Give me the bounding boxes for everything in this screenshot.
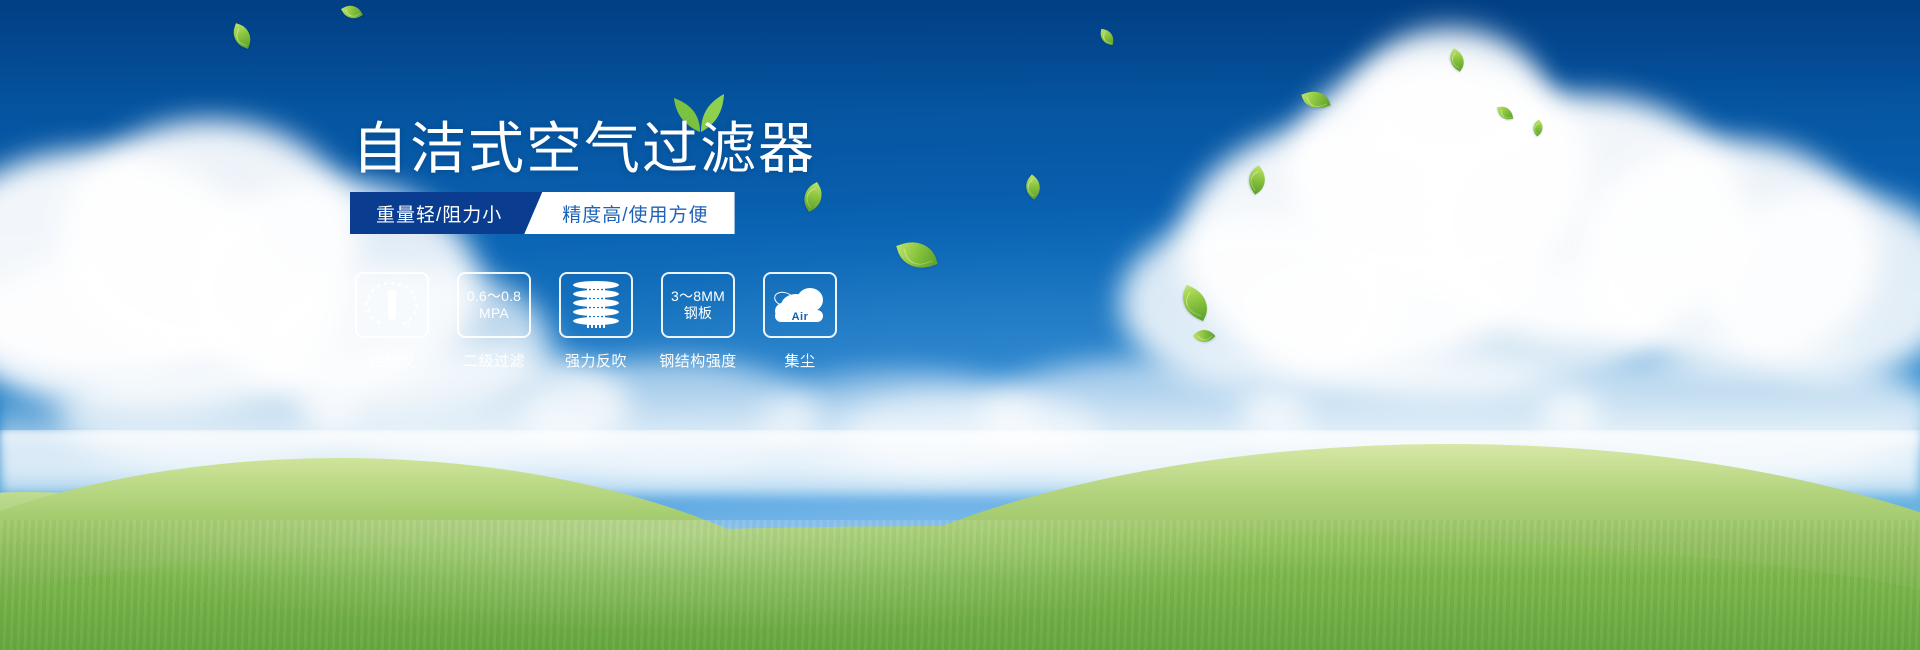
page-title: 自洁式空气过滤器 xyxy=(352,118,816,180)
air-cloud-icon: Air xyxy=(773,284,827,326)
steel-plate-value-icon: 3～8MM 钢板 xyxy=(671,288,725,322)
feature-label: 控制仪 xyxy=(369,350,416,371)
feature-icon-box: 0.6～0.8 MPA xyxy=(457,272,531,338)
feature-item[interactable]: 3～8MM 钢板 钢结构强度 xyxy=(662,272,734,371)
subtitle-tabs: 重量轻/阻力小 精度高/使用方便 xyxy=(350,192,735,234)
feature-item[interactable]: 强力反吹 xyxy=(560,272,632,371)
feature-item[interactable]: Air 集尘 xyxy=(764,272,836,371)
pressure-line-2: MPA xyxy=(467,305,521,322)
steel-line-1: 3～8MM xyxy=(671,288,725,305)
hero-banner: 自洁式空气过滤器 重量轻/阻力小 精度高/使用方便 xyxy=(0,0,1920,650)
feature-icon-box: 3～8MM 钢板 xyxy=(661,272,735,338)
feature-icon-box: NO OFF xyxy=(355,272,429,338)
banner-content: 自洁式空气过滤器 重量轻/阻力小 精度高/使用方便 xyxy=(0,0,1920,650)
dial-label-off: OFF xyxy=(404,316,417,330)
feature-label: 集尘 xyxy=(784,350,815,371)
pressure-value-icon: 0.6～0.8 MPA xyxy=(467,288,521,322)
feature-label: 强力反吹 xyxy=(565,350,627,371)
control-dial-icon: NO OFF xyxy=(365,281,419,329)
tab-lightweight-low-resistance[interactable]: 重量轻/阻力小 xyxy=(350,192,542,234)
steel-line-2: 钢板 xyxy=(671,305,725,322)
feature-item[interactable]: NO OFF 控制仪 xyxy=(356,272,428,371)
feature-icon-box xyxy=(559,272,633,338)
feature-label: 钢结构强度 xyxy=(659,350,737,371)
dial-label-no: NO xyxy=(363,296,373,307)
air-cloud-label: Air xyxy=(773,311,827,323)
feature-list: NO OFF 控制仪 0.6～0.8 MPA 二级过滤 xyxy=(356,272,836,371)
coil-filter-icon xyxy=(573,281,619,329)
pressure-line-1: 0.6～0.8 xyxy=(467,288,521,305)
tab-high-precision-easy-use[interactable]: 精度高/使用方便 xyxy=(524,192,734,234)
feature-label: 二级过滤 xyxy=(463,350,525,371)
feature-item[interactable]: 0.6～0.8 MPA 二级过滤 xyxy=(458,272,530,371)
feature-icon-box: Air xyxy=(763,272,837,338)
dial-needle xyxy=(388,290,396,320)
